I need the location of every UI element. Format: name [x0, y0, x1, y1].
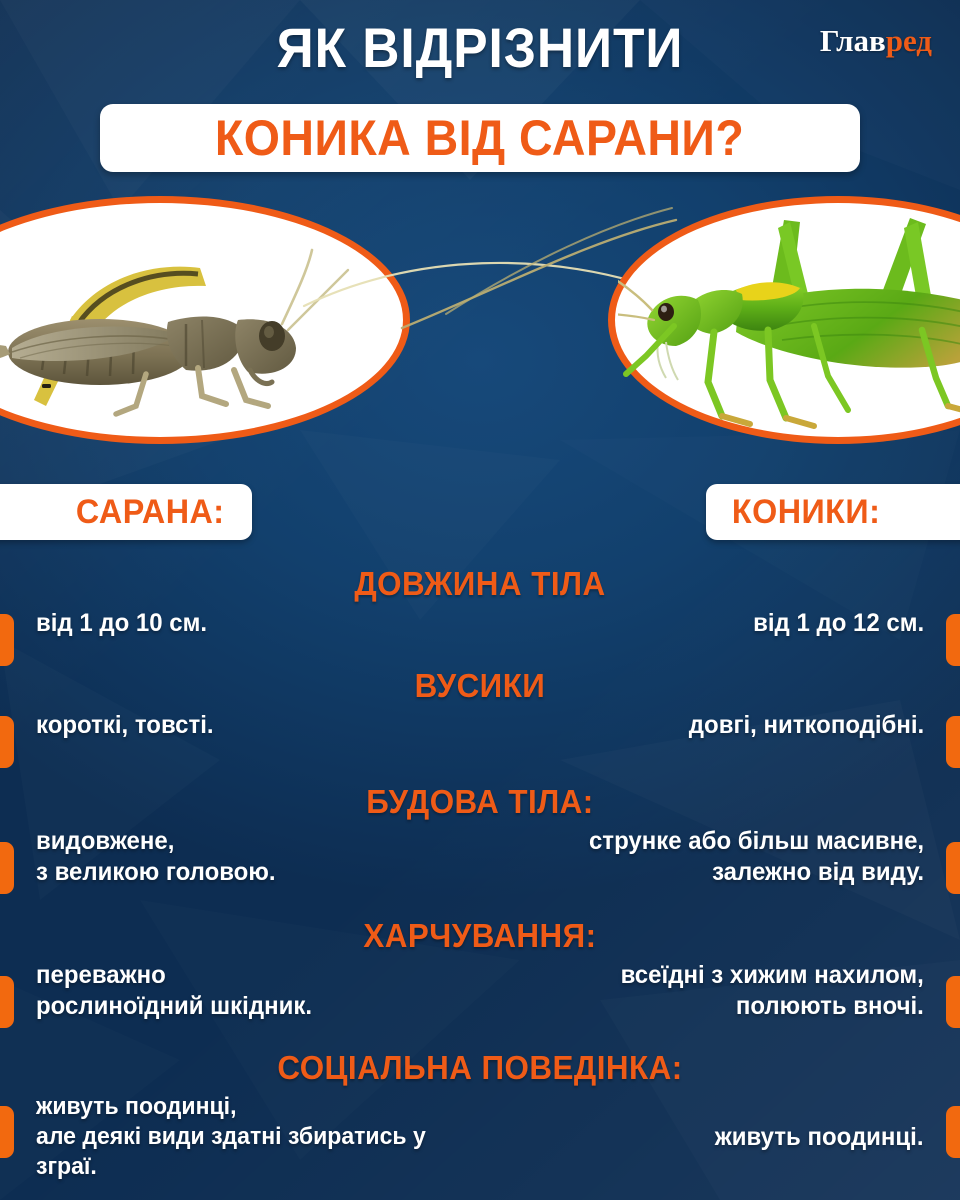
- row-tab-right: [946, 976, 960, 1028]
- row-tab-right: [946, 614, 960, 666]
- locust-photo: [0, 224, 370, 424]
- row-tab-left: [0, 1106, 14, 1158]
- column-label-katydid-text: КОНИКИ:: [732, 494, 880, 530]
- row-values: живуть поодинці, але деякі види здатні з…: [0, 1092, 960, 1182]
- row-values: переважно рослиноїдний шкідник. всеїдні …: [0, 960, 960, 1022]
- row-value-katydid: довгі, ниткоподібні.: [689, 710, 924, 741]
- glavred-logo[interactable]: Главред: [820, 24, 932, 58]
- row-tab-right: [946, 1106, 960, 1158]
- page-subtitle: КОНИКА ВІД САРАНИ?: [215, 112, 744, 164]
- column-label-locust-text: САРАНА:: [75, 494, 224, 530]
- comparison-row-social-behaviour: СОЦІАЛЬНА ПОВЕДІНКА: живуть поодинці, ал…: [0, 1050, 960, 1182]
- row-value-locust: від 1 до 10 см.: [36, 608, 207, 639]
- row-tab-left: [0, 614, 14, 666]
- katydid-photo-frame: [608, 196, 960, 444]
- row-tab-right: [946, 716, 960, 768]
- row-values: короткі, товсті. довгі, ниткоподібні.: [0, 710, 960, 741]
- column-label-katydid: КОНИКИ:: [706, 484, 960, 540]
- row-value-locust: видовжене, з великою головою.: [36, 826, 276, 888]
- poster-header: ЯК ВІДРІЗНИТИ КОНИКА ВІД САРАНИ? Главред: [0, 0, 960, 190]
- row-value-katydid: стрункe або більш масивне, залежно від в…: [589, 826, 924, 888]
- row-value-locust: живуть поодинці, але деякі види здатні з…: [36, 1092, 478, 1182]
- row-value-locust: переважно рослиноїдний шкідник.: [36, 960, 312, 1022]
- comparison-row-body-structure: БУДОВА ТІЛА: видовжене, з великою голово…: [0, 784, 960, 888]
- row-value-katydid: живуть поодинці.: [715, 1122, 924, 1153]
- subtitle-box: КОНИКА ВІД САРАНИ?: [100, 104, 860, 172]
- row-value-locust: короткі, товсті.: [36, 710, 214, 741]
- infographic-poster: ЯК ВІДРІЗНИТИ КОНИКА ВІД САРАНИ? Главред: [0, 0, 960, 1200]
- comparison-row-body-length: ДОВЖИНА ТІЛА від 1 до 10 см. від 1 до 12…: [0, 566, 960, 639]
- comparison-row-antennae: ВУСИКИ короткі, товсті. довгі, ниткоподі…: [0, 668, 960, 741]
- row-values: видовжене, з великою головою. стрункe аб…: [0, 826, 960, 888]
- row-tab-right: [946, 842, 960, 894]
- row-heading: ВУСИКИ: [24, 668, 936, 704]
- comparison-row-nutrition: ХАРЧУВАННЯ: переважно рослиноїдний шкідн…: [0, 918, 960, 1022]
- row-value-katydid: від 1 до 12 см.: [753, 608, 924, 639]
- locust-photo-frame: [0, 196, 410, 444]
- logo-text-orange: ред: [886, 23, 932, 58]
- row-value-katydid: всеїдні з хижим нахилом, полюють вночі.: [621, 960, 924, 1022]
- row-heading: БУДОВА ТІЛА:: [24, 784, 936, 820]
- row-heading: СОЦІАЛЬНА ПОВЕДІНКА:: [24, 1050, 936, 1086]
- katydid-photo: [618, 206, 960, 442]
- row-tab-left: [0, 842, 14, 894]
- row-values: від 1 до 10 см. від 1 до 12 см.: [0, 608, 960, 639]
- row-tab-left: [0, 976, 14, 1028]
- logo-text-white: Глав: [820, 23, 886, 58]
- row-tab-left: [0, 716, 14, 768]
- column-label-locust: САРАНА:: [0, 484, 252, 540]
- row-heading: ХАРЧУВАННЯ:: [24, 918, 936, 954]
- page-title: ЯК ВІДРІЗНИТИ: [38, 18, 921, 78]
- row-heading: ДОВЖИНА ТІЛА: [24, 566, 936, 602]
